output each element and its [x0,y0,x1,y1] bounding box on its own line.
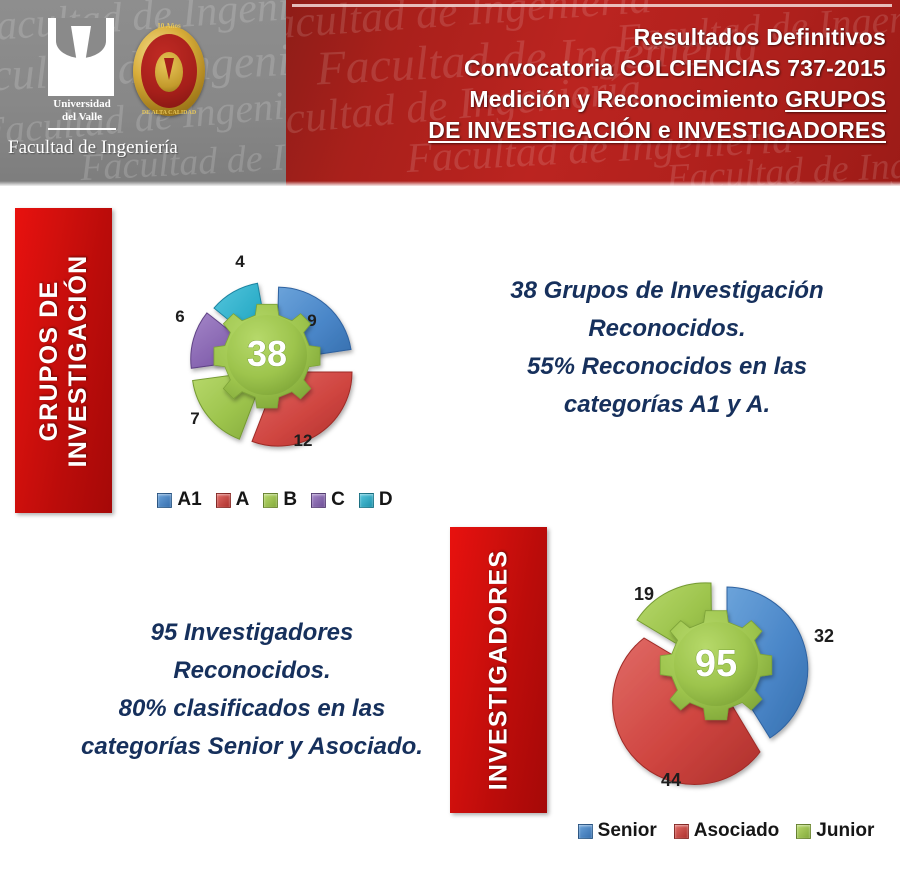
title-line-3-plain: Medición y Reconocimiento [469,86,785,112]
header-gray-panel: Facultad de Ingeniería Facultad de Ingen… [0,0,290,186]
banner-grupos-label-line2: INVESTIGACIÓN [64,254,93,467]
title-line-1: Resultados Definitivos [286,22,886,53]
legend-swatch-a-icon [216,493,231,508]
infographic-page: Facultad de Ingeniería Facultad de Ingen… [0,0,900,878]
legend-item-b: B [263,489,297,511]
summary-investigadores-line4: categorías Senior y Asociado. [42,728,462,766]
donut-chart-investigadores-svg: 32 44 19 95 [556,522,886,822]
segment-senior-value: 32 [814,626,834,646]
legend-label-b: B [283,489,297,511]
legend-swatch-asociado-icon [674,824,689,839]
university-name-line1: Universidad [42,98,122,111]
summary-grupos-line2: Reconocidos. [442,310,892,348]
logo-v-glyph [48,18,114,96]
title-line-2: Convocatoria COLCIENCIAS 737-2015 [286,53,886,84]
title-line-4: DE INVESTIGACIÓN e INVESTIGADORES [286,115,886,146]
legend-swatch-b-icon [263,493,278,508]
donut-chart-investigadores: 32 44 19 95 [556,522,886,822]
legend-swatch-senior-icon [578,824,593,839]
summary-grupos-line1: 38 Grupos de Investigación [442,272,892,310]
university-name-line2: del Valle [42,111,122,124]
seal-v-glyph [164,58,174,80]
legend-label-d: D [379,489,393,511]
legend-item-asociado: Asociado [674,820,780,842]
page-header: Facultad de Ingeniería Facultad de Ingen… [0,0,900,186]
legend-item-d: D [359,489,393,511]
summary-grupos-line4: categorías A1 y A. [442,386,892,424]
title-line-3-underlined: GRUPOS [785,86,886,112]
summary-investigadores-line3: 80% clasificados en las [42,690,462,728]
legend-label-a: A [236,489,250,511]
banner-grupos-label: GRUPOS DE INVESTIGACIÓN [35,254,93,467]
header-bottom-fade [0,181,900,186]
legend-label-senior: Senior [598,820,657,842]
legend-grupos: A1 A B C D [140,489,410,511]
header-top-rule [292,4,892,7]
banner-investigadores: INVESTIGADORES [450,527,547,813]
logo-divider [48,128,116,130]
summary-investigadores-line2: Reconocidos. [42,652,462,690]
legend-label-junior: Junior [816,820,874,842]
faculty-name: Facultad de Ingeniería [8,137,178,159]
summary-investigadores: 95 Investigadores Reconocidos. 80% clasi… [42,614,462,766]
page-title: Resultados Definitivos Convocatoria COLC… [286,22,886,146]
legend-swatch-d-icon [359,493,374,508]
segment-b-value: 7 [190,409,199,428]
legend-swatch-junior-icon [796,824,811,839]
segment-c-value-d: 4 [235,252,245,271]
legend-item-senior: Senior [578,820,657,842]
banner-grupos-label-line1: GRUPOS DE [35,254,64,467]
legend-item-c: C [311,489,345,511]
seal-top-text: 10 Años [133,22,205,30]
seal-bottom-text: DE ALTA CALIDAD [133,110,205,116]
legend-swatch-c-icon [311,493,326,508]
title-line-4-underlined: DE INVESTIGACIÓN e INVESTIGADORES [428,117,886,143]
segment-a1-value: 9 [307,311,316,330]
legend-label-a1: A1 [177,489,201,511]
segment-asociado-value: 44 [661,770,681,790]
donut-chart-grupos-svg: 9 12 7 6 4 38 [118,212,418,487]
accreditation-seal-icon: 10 Años DE ALTA CALIDAD [133,18,205,128]
segment-c-value: 6 [175,307,184,326]
center-total-grupos: 38 [247,333,287,374]
segment-junior-value: 19 [634,584,654,604]
legend-item-a: A [216,489,250,511]
center-total-investigadores: 95 [695,643,737,685]
university-logo: Universidad del Valle [42,18,122,128]
legend-label-c: C [331,489,345,511]
segment-a-value: 12 [294,431,313,450]
university-name: Universidad del Valle [42,98,122,124]
banner-investigadores-label: INVESTIGADORES [484,550,513,790]
donut-chart-grupos: 9 12 7 6 4 38 [118,212,418,487]
watermark-text: Facultad de Ingeniería [665,141,900,186]
legend-investigadores: Senior Asociado Junior [560,820,892,842]
legend-label-asociado: Asociado [694,820,780,842]
title-line-3: Medición y Reconocimiento GRUPOS [286,84,886,115]
legend-item-junior: Junior [796,820,874,842]
summary-grupos-line3: 55% Reconocidos en las [442,348,892,386]
summary-investigadores-line1: 95 Investigadores [42,614,462,652]
legend-swatch-a1-icon [157,493,172,508]
legend-item-a1: A1 [157,489,201,511]
banner-grupos-de-investigacion: GRUPOS DE INVESTIGACIÓN [15,208,112,513]
summary-grupos: 38 Grupos de Investigación Reconocidos. … [442,272,892,424]
